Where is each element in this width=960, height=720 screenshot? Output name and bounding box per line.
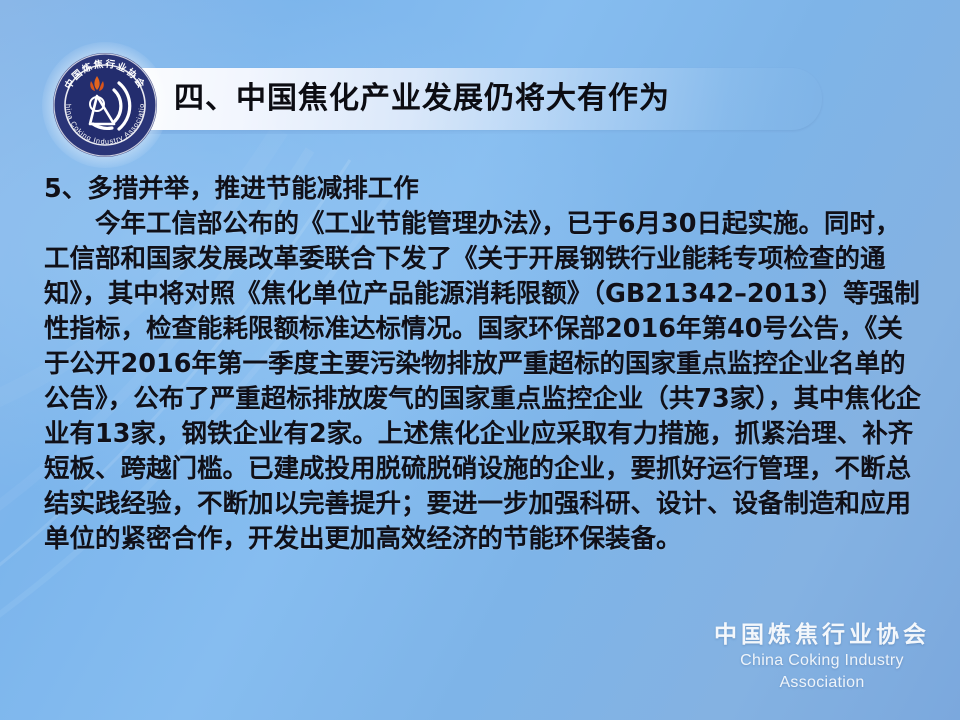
association-logo: 中国炼焦行业协会 China Coking Industry Associati… (52, 52, 158, 158)
body-paragraph: 今年工信部公布的《工业节能管理办法》，已于6月30日起实施。同时，工信部和国家发… (44, 207, 924, 557)
footer-association-name-en: China Coking Industry Association (702, 650, 942, 694)
presentation-slide: 四、中国焦化产业发展仍将大有作为 中国炼焦行业协会 China Coking I… (0, 0, 960, 720)
slide-body: 5、多措并举，推进节能减排工作 今年工信部公布的《工业节能管理办法》，已于6月3… (44, 172, 924, 557)
footer-association-name-cn: 中国炼焦行业协会 (702, 620, 942, 650)
emblem-icon: 中国炼焦行业协会 China Coking Industry Associati… (52, 52, 158, 158)
page-title: 四、中国焦化产业发展仍将大有作为 (174, 74, 670, 124)
body-heading: 5、多措并举，推进节能减排工作 (44, 172, 924, 207)
footer-watermark: 中国炼焦行业协会 China Coking Industry Associati… (702, 620, 942, 694)
